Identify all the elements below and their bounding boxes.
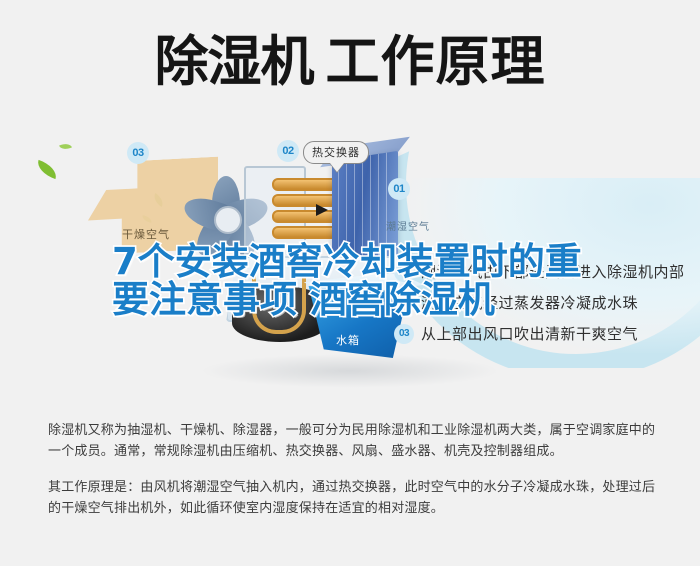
heat-exchanger-callout: 热交换器 <box>303 141 369 164</box>
page-title: 除湿机工作原理 <box>0 22 700 102</box>
step-text: 从上部出风口吹出清新干爽空气 <box>421 323 638 344</box>
ground-shadow <box>200 354 500 388</box>
leaf-icon <box>35 160 60 179</box>
overlay-headline: 7个安装酒窖冷却装置时的重要注意事项 酒窖除湿机 <box>112 243 592 318</box>
diagram-badge-01: 01 <box>388 178 410 200</box>
body-paragraph-2: 其工作原理是：由风机将潮湿空气抽入机内，通过热交换器，此时空气中的水分子冷凝成水… <box>48 477 658 519</box>
title-text-group: 除湿机工作原理 <box>155 35 546 89</box>
title-part-2: 工作原理 <box>326 30 546 93</box>
diagram-badge-03: 03 <box>127 142 149 164</box>
humid-air-label: 潮湿空气 <box>386 218 430 233</box>
article-body: 除湿机又称为抽湿机、干燥机、除湿器，一般可分为民用除湿机和工业除湿机两大类，属于… <box>48 420 658 519</box>
fan-hub <box>214 206 242 234</box>
airflow-arrow-icon <box>316 204 328 216</box>
body-paragraph-1: 除湿机又称为抽湿机、干燥机、除湿器，一般可分为民用除湿机和工业除湿机两大类，属于… <box>48 420 658 462</box>
title-part-1: 除湿机 <box>155 30 314 93</box>
step-number-badge: 03 <box>394 324 414 344</box>
infographic-page: 除湿机工作原理 干燥空气 <box>0 0 700 566</box>
water-tank-label: 水箱 <box>336 332 360 348</box>
diagram-badge-02: 02 <box>277 140 299 162</box>
step-item: 03 从上部出风口吹出清新干爽空气 <box>394 318 694 349</box>
leaf-icon <box>59 141 72 152</box>
